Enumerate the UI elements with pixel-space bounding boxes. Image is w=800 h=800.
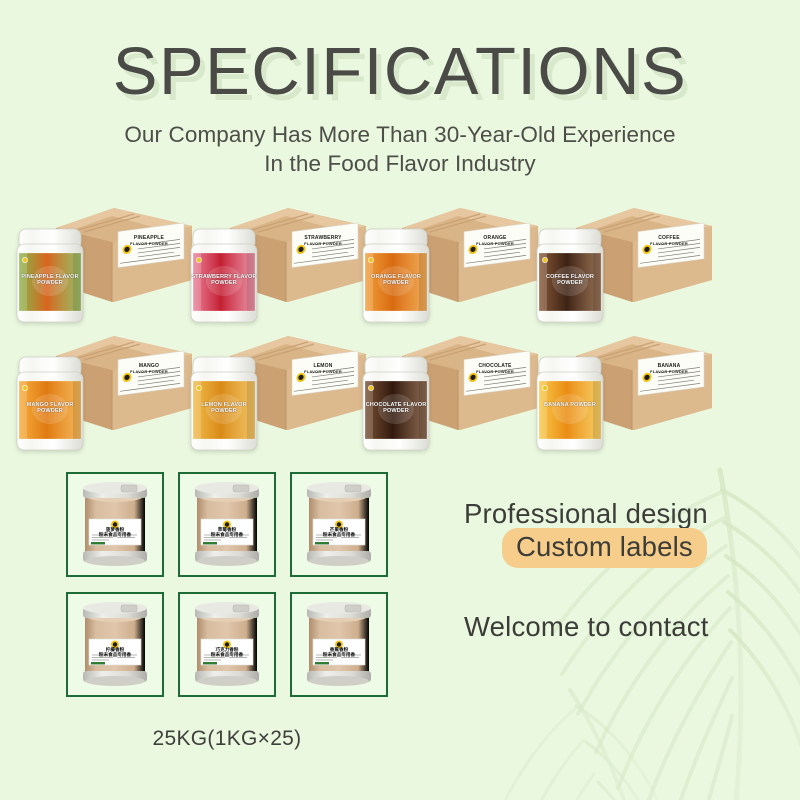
- product-jar-pineapple: PINEAPPLE FLAVOR POWDER: [14, 227, 86, 325]
- subtitle-line-2: In the Food Flavor Industry: [0, 150, 800, 179]
- packaging-caption: 25KG(1KG×25): [66, 727, 388, 751]
- product-row-2: MANGOFLAVOR POWDER MANGO FLAVOR POWDER: [0, 328, 800, 453]
- product-jar-banana: BANANA POWDER: [534, 355, 606, 453]
- promo-line-custom-labels: Custom labels: [502, 528, 707, 568]
- product-package-coffee: COFFEEFLAVOR POWDER COFFEE FLAVOR POWDER: [532, 200, 717, 325]
- promo-line-professional-design: Professional design: [464, 498, 708, 529]
- subtitle-line-1: Our Company Has More Than 30-Year-Old Ex…: [0, 121, 800, 150]
- page-title: SPECIFICATIONS: [0, 38, 800, 105]
- product-package-chocolate: CHOCOLATEFLAVOR POWDER CHOCOLATE FLAVOR …: [358, 328, 543, 453]
- drum-cell: 柠檬香粉粉末食品专用香: [66, 592, 164, 697]
- powder-drum: 菠萝香粉粉末食品专用香: [79, 481, 151, 569]
- powder-drum: 巧克力香粉粉末食品专用香: [191, 601, 263, 689]
- promo-line-welcome-to-contact: Welcome to contact: [464, 611, 709, 642]
- product-jar-coffee: COFFEE FLAVOR POWDER: [534, 227, 606, 325]
- page-subtitle: Our Company Has More Than 30-Year-Old Ex…: [0, 121, 800, 179]
- product-package-banana: BANANAFLAVOR POWDER BANANA POWDER: [532, 328, 717, 453]
- header: SPECIFICATIONS Our Company Has More Than…: [0, 38, 800, 179]
- drum-cell: 芒果香粉粉末食品专用香: [290, 472, 388, 577]
- drum-cell: 草莓香粉粉末食品专用香: [178, 472, 276, 577]
- drum-cell: 香蕉香粉粉末食品专用香: [290, 592, 388, 697]
- specifications-page: SPECIFICATIONS Our Company Has More Than…: [0, 0, 800, 800]
- product-jar-chocolate: CHOCOLATE FLAVOR POWDER: [360, 355, 432, 453]
- product-package-strawberry: STRAWBERRYFLAVOR POWDER STRAWBERRY FLAVO…: [186, 200, 371, 325]
- product-row-1: PINEAPPLEFLAVOR POWDER PINEAPPLE FLAVOR …: [0, 200, 800, 325]
- product-package-orange: ORANGEFLAVOR POWDER ORANGE FLAVOR POWDER: [358, 200, 543, 325]
- powder-drum: 香蕉香粉粉末食品专用香: [303, 601, 375, 689]
- product-jar-lemon: LEMON FLAVOR POWDER: [188, 355, 260, 453]
- product-package-pineapple: PINEAPPLEFLAVOR POWDER PINEAPPLE FLAVOR …: [12, 200, 197, 325]
- promo-text-block: Professional design Custom labels Welcom…: [464, 500, 784, 641]
- powder-drum: 草莓香粉粉末食品专用香: [191, 481, 263, 569]
- product-package-lemon: LEMONFLAVOR POWDER LEMON FLAVOR POWDER: [186, 328, 371, 453]
- drum-grid: 菠萝香粉粉末食品专用香: [66, 472, 388, 712]
- powder-drum: 柠檬香粉粉末食品专用香: [79, 601, 151, 689]
- product-jar-mango: MANGO FLAVOR POWDER: [14, 355, 86, 453]
- drum-cell: 菠萝香粉粉末食品专用香: [66, 472, 164, 577]
- product-package-mango: MANGOFLAVOR POWDER MANGO FLAVOR POWDER: [12, 328, 197, 453]
- drum-cell: 巧克力香粉粉末食品专用香: [178, 592, 276, 697]
- powder-drum: 芒果香粉粉末食品专用香: [303, 481, 375, 569]
- product-jar-strawberry: STRAWBERRY FLAVOR POWDER: [188, 227, 260, 325]
- product-jar-orange: ORANGE FLAVOR POWDER: [360, 227, 432, 325]
